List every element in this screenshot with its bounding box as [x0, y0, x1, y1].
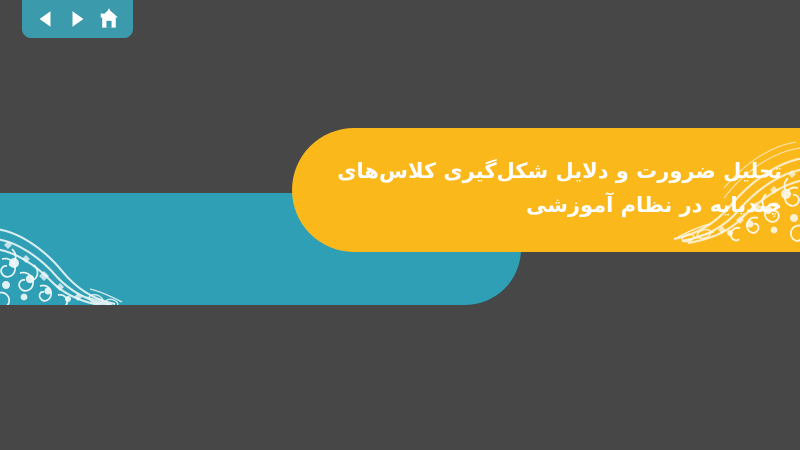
presentation-slide: تحلیل ضرورت و دلایل شکل‌گیری کلاس‌های چن… [0, 0, 800, 450]
previous-slide-button[interactable] [33, 6, 59, 32]
navigation-bar [22, 0, 133, 38]
title-line-2: چندپایه در نظام آموزشی [352, 188, 782, 222]
slide-title: تحلیل ضرورت و دلایل شکل‌گیری کلاس‌های چن… [352, 154, 782, 222]
home-button[interactable] [96, 6, 122, 32]
next-slide-button[interactable] [64, 6, 90, 32]
title-line-1: تحلیل ضرورت و دلایل شکل‌گیری کلاس‌های [352, 154, 782, 188]
title-banner: تحلیل ضرورت و دلایل شکل‌گیری کلاس‌های چن… [292, 128, 800, 252]
arabesque-ornament-teal [0, 193, 150, 305]
triangle-left-icon [36, 9, 56, 29]
home-icon [98, 8, 120, 30]
triangle-right-icon [67, 9, 87, 29]
